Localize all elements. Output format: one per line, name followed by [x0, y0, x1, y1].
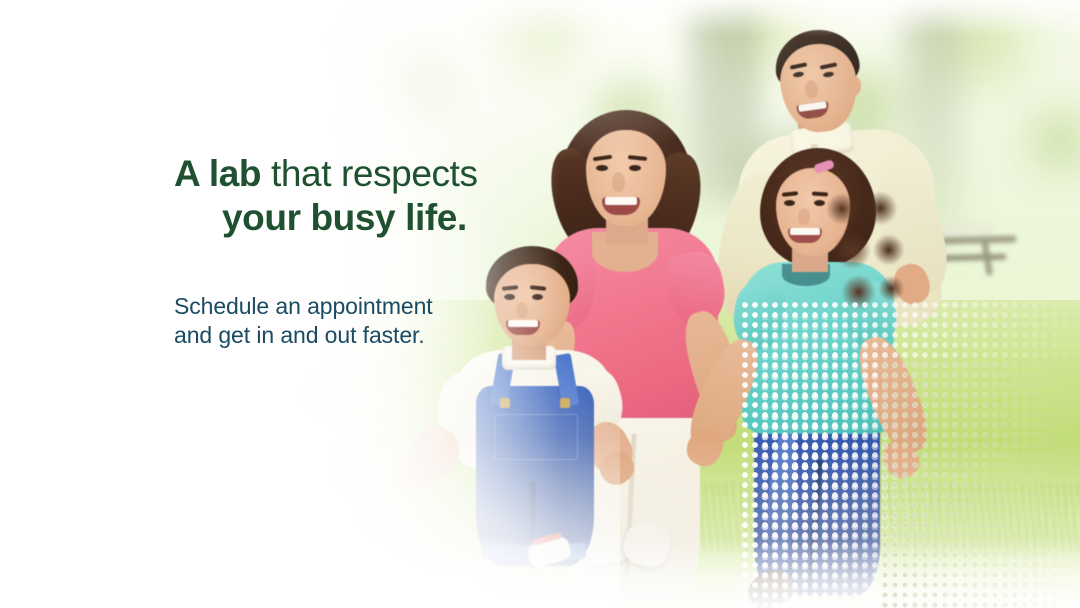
girl-mouth — [788, 228, 822, 243]
headline-line-1: A lab that respects — [174, 152, 594, 196]
girl-eye-right — [814, 200, 825, 206]
person-girl — [728, 140, 913, 570]
copy-block: A lab that respects your busy life. Sche… — [174, 152, 594, 350]
boy-overalls-buckle-right — [560, 398, 570, 408]
boy-overalls-buckle-left — [500, 398, 510, 408]
woman-nose — [612, 172, 625, 192]
girl-eye-left — [784, 200, 795, 206]
woman-teeth — [605, 197, 637, 205]
woman-eye-right — [629, 165, 641, 171]
woman-eye-left — [596, 165, 608, 171]
boy-cuff-left — [482, 542, 533, 561]
subcopy-line-2: and get in and out faster. — [174, 321, 594, 350]
headline-emphasis: A lab — [174, 153, 261, 194]
girl-teeth — [790, 228, 820, 235]
headline-line-2: your busy life. — [174, 196, 594, 240]
boy-overalls-bib — [494, 414, 578, 460]
man-ear — [847, 76, 861, 96]
marketing-hero-banner: A lab that respects your busy life. Sche… — [0, 0, 1080, 608]
girl-nose — [798, 208, 810, 225]
subcopy-line-1: Schedule an appointment — [174, 292, 594, 321]
headline-line-1-rest: that respects — [261, 153, 478, 194]
